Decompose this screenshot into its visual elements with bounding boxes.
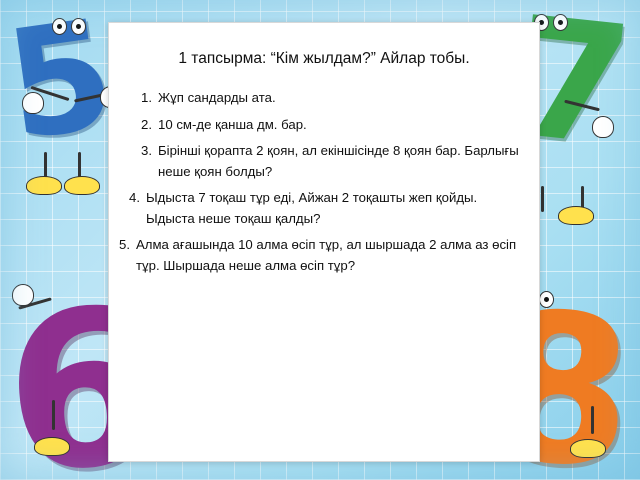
task-text: 10 см-де қанша дм. бар. [158, 115, 521, 135]
task-list: 1. Жұп сандарды ата. 2. 10 см-де қанша д… [127, 88, 521, 276]
digit-7-foot-right-icon [558, 206, 594, 225]
digit-7-leg-left [541, 186, 544, 212]
digit-5-foot-left-icon [26, 176, 62, 195]
task-number: 2. [141, 115, 152, 135]
task-number: 4. [129, 188, 140, 229]
task-text: Бірінші қорапта 2 қоян, ал екіншісінде 8… [158, 141, 521, 182]
content-card: 1 тапсырма: “Кім жылдам?” Айлар тобы. 1.… [108, 22, 540, 462]
eye-right [553, 14, 568, 31]
digit-5-eyes-icon [52, 18, 86, 35]
list-item: 4. Ыдыста 7 тоқаш тұр еді, Айжан 2 тоқаш… [127, 188, 521, 229]
content-card-inner: 1 тапсырма: “Кім жылдам?” Айлар тобы. 1.… [109, 23, 539, 461]
digit-6-hand-left-icon [12, 284, 34, 306]
list-item: 2. 10 см-де қанша дм. бар. [127, 115, 521, 135]
digit-8-leg-right [591, 406, 594, 434]
list-item: 5. Алма ағашында 10 алма өсіп тұр, ал шы… [119, 235, 521, 276]
slide-canvas: 5 7 6 8 1 тапсырма: “Кім жылдам [0, 0, 640, 480]
task-text: Жұп сандарды ата. [158, 88, 521, 108]
digit-8-foot-right-icon [570, 439, 606, 458]
task-number: 3. [141, 141, 152, 182]
digit-6-foot-left-icon [34, 437, 70, 456]
digit-5-hand-left-icon [22, 92, 44, 114]
digit-6-leg-left [52, 400, 55, 430]
eye-left [52, 18, 67, 35]
task-number: 1. [141, 88, 152, 108]
eye-right [539, 291, 554, 308]
digit-5-foot-right-icon [64, 176, 100, 195]
list-item: 1. Жұп сандарды ата. [127, 88, 521, 108]
task-number: 5. [119, 235, 130, 276]
slide-title: 1 тапсырма: “Кім жылдам?” Айлар тобы. [127, 49, 521, 68]
eye-right [71, 18, 86, 35]
digit-7-hand-right-icon [592, 116, 614, 138]
list-item: 3. Бірінші қорапта 2 қоян, ал екіншісінд… [127, 141, 521, 182]
task-text: Ыдыста 7 тоқаш тұр еді, Айжан 2 тоқашты … [146, 188, 521, 229]
task-text: Алма ағашында 10 алма өсіп тұр, ал шырша… [136, 235, 521, 276]
